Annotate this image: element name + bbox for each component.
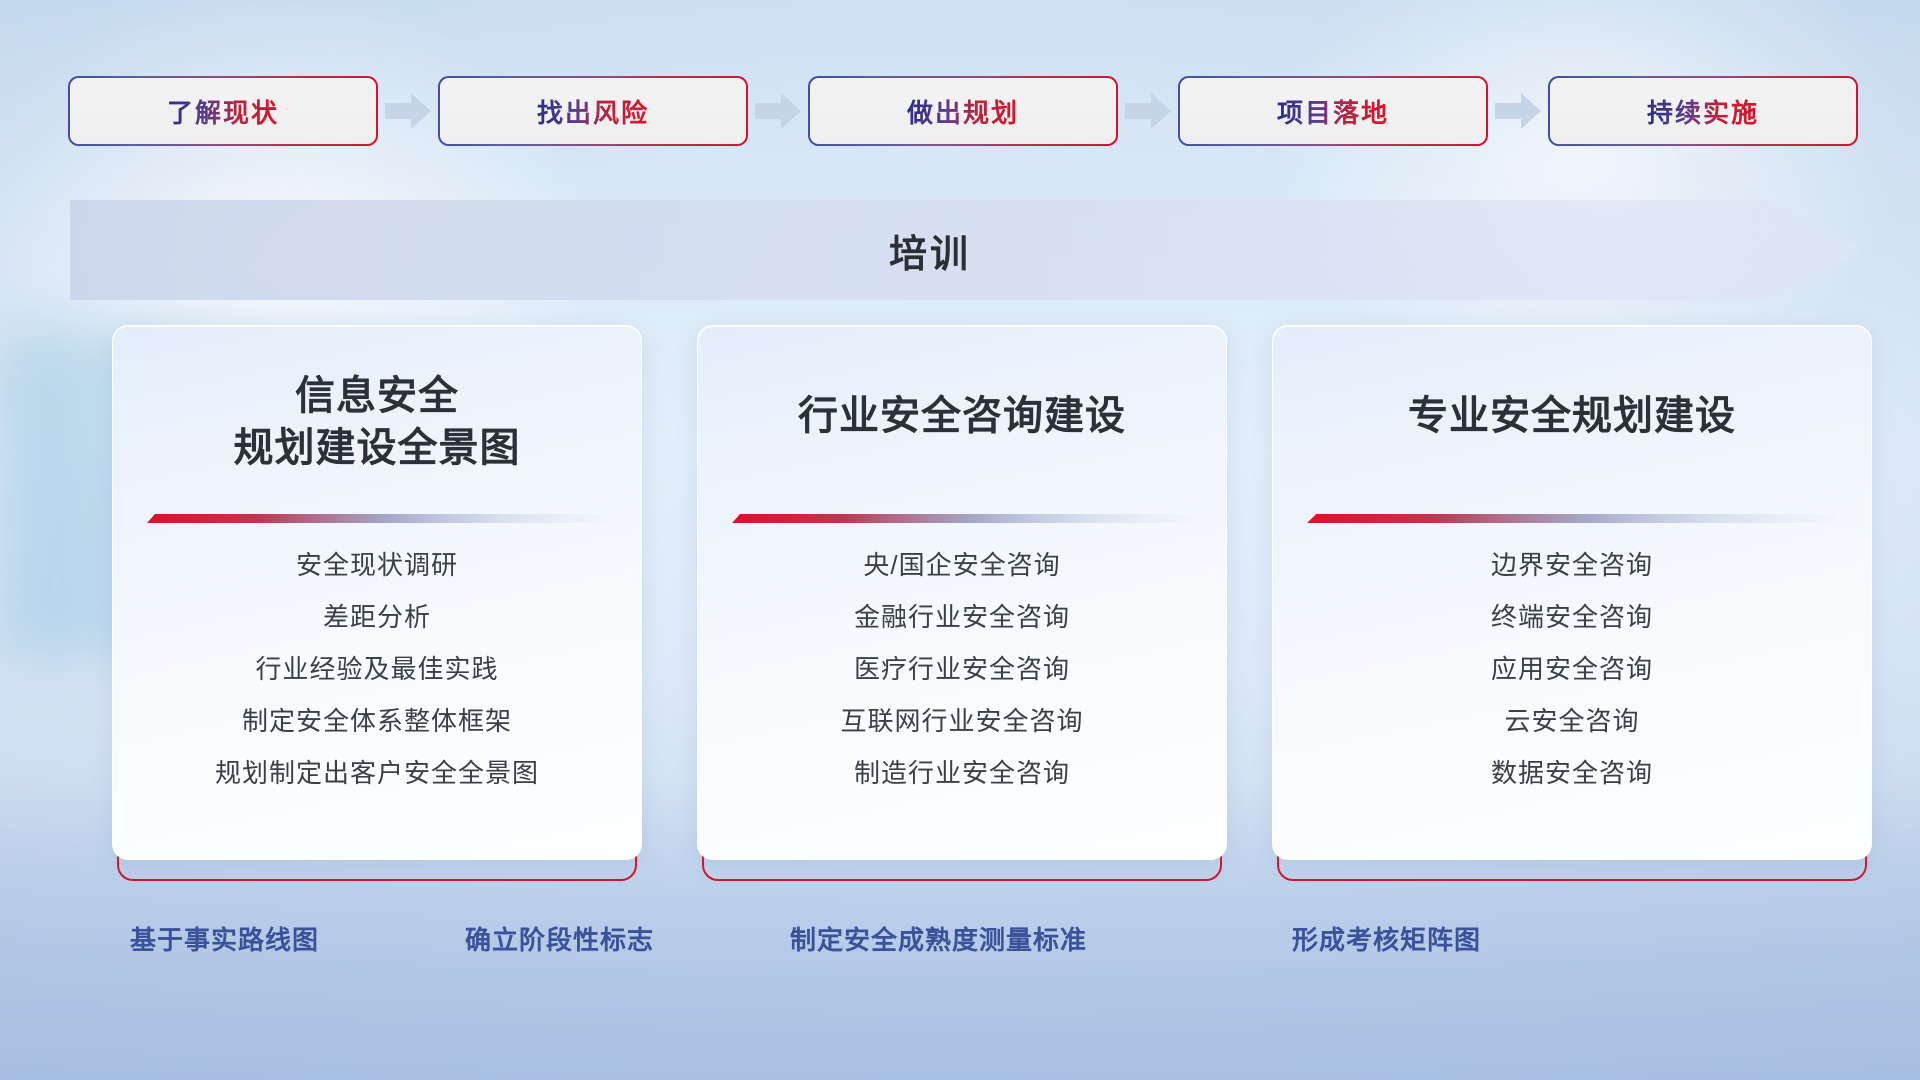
step-chip-3-wrapper[interactable]: 做出规划 — [810, 78, 1116, 144]
step-arrow-icon-3 — [1116, 78, 1180, 144]
card-1-title: 信息安全 规划建设全景图 — [113, 326, 641, 474]
step-chip-5[interactable]: 持续实施 — [1550, 78, 1856, 144]
step-chip-2-label: 找出风险 — [537, 93, 649, 130]
card-2-item: 互联网行业安全咨询 — [698, 708, 1226, 734]
card-1-item: 安全现状调研 — [113, 552, 641, 578]
process-step-row: 了解现状 找出风险 做出规划 项目落地 — [70, 78, 1860, 144]
card-row: 信息安全 规划建设全景图 — [0, 325, 1920, 885]
card-1-title-line-2: 规划建设全景图 — [137, 422, 617, 474]
footnote-row: 基于事实路线图 确立阶段性标志 制定安全成熟度测量标准 形成考核矩阵图 — [0, 920, 1920, 980]
card-1-item: 差距分析 — [113, 604, 641, 630]
footnote-4: 形成考核矩阵图 — [1292, 920, 1481, 957]
step-arrow-icon-2 — [746, 78, 810, 144]
step-chip-2-wrapper[interactable]: 找出风险 — [440, 78, 746, 144]
card-1-item: 制定安全体系整体框架 — [113, 708, 641, 734]
card-2-item: 金融行业安全咨询 — [698, 604, 1226, 630]
card-2-item: 央/国企安全咨询 — [698, 552, 1226, 578]
card-2-title-line-1: 行业安全咨询建设 — [722, 390, 1202, 442]
step-chip-2[interactable]: 找出风险 — [440, 78, 746, 144]
card-3-item: 数据安全咨询 — [1273, 760, 1871, 786]
training-banner-label: 培训 — [70, 200, 1790, 300]
step-chip-3[interactable]: 做出规划 — [810, 78, 1116, 144]
card-2-divider — [732, 514, 1192, 526]
card-2-item: 制造行业安全咨询 — [698, 760, 1226, 786]
footnote-2: 确立阶段性标志 — [465, 920, 654, 957]
card-1-title-line-1: 信息安全 — [137, 370, 617, 422]
step-chip-5-label: 持续实施 — [1647, 93, 1759, 130]
step-arrow-icon-1 — [376, 78, 440, 144]
step-chip-5-wrapper[interactable]: 持续实施 — [1550, 78, 1856, 144]
footnote-1: 基于事实路线图 — [130, 920, 319, 957]
card-2-title: 行业安全咨询建设 — [698, 326, 1226, 442]
card-1[interactable]: 信息安全 规划建设全景图 — [112, 325, 642, 860]
step-chip-3-label: 做出规划 — [907, 93, 1019, 130]
card-3-divider — [1307, 514, 1837, 526]
card-3-item-list: 边界安全咨询 终端安全咨询 应用安全咨询 云安全咨询 数据安全咨询 — [1273, 552, 1871, 786]
step-chip-4-label: 项目落地 — [1277, 93, 1389, 130]
step-chip-1-wrapper[interactable]: 了解现状 — [70, 78, 376, 144]
card-3[interactable]: 专业安全规划建设 边界安 — [1272, 325, 1872, 860]
footnote-3: 制定安全成熟度测量标准 — [790, 920, 1087, 957]
card-2-item: 医疗行业安全咨询 — [698, 656, 1226, 682]
card-1-item: 行业经验及最佳实践 — [113, 656, 641, 682]
card-1-item-list: 安全现状调研 差距分析 行业经验及最佳实践 制定安全体系整体框架 规划制定出客户… — [113, 552, 641, 786]
card-2[interactable]: 行业安全咨询建设 央/国 — [697, 325, 1227, 860]
card-3-title: 专业安全规划建设 — [1273, 326, 1871, 442]
card-3-item: 云安全咨询 — [1273, 708, 1871, 734]
card-3-item: 边界安全咨询 — [1273, 552, 1871, 578]
card-3-item: 终端安全咨询 — [1273, 604, 1871, 630]
step-arrow-icon-4 — [1486, 78, 1550, 144]
card-3-item: 应用安全咨询 — [1273, 656, 1871, 682]
card-3-title-line-1: 专业安全规划建设 — [1297, 390, 1847, 442]
step-chip-4-wrapper[interactable]: 项目落地 — [1180, 78, 1486, 144]
card-1-item: 规划制定出客户安全全景图 — [113, 760, 641, 786]
step-chip-4[interactable]: 项目落地 — [1180, 78, 1486, 144]
card-1-divider — [147, 514, 607, 526]
step-chip-1[interactable]: 了解现状 — [70, 78, 376, 144]
step-chip-1-label: 了解现状 — [167, 93, 279, 130]
card-2-item-list: 央/国企安全咨询 金融行业安全咨询 医疗行业安全咨询 互联网行业安全咨询 制造行… — [698, 552, 1226, 786]
training-banner: 培训 — [70, 200, 1860, 300]
